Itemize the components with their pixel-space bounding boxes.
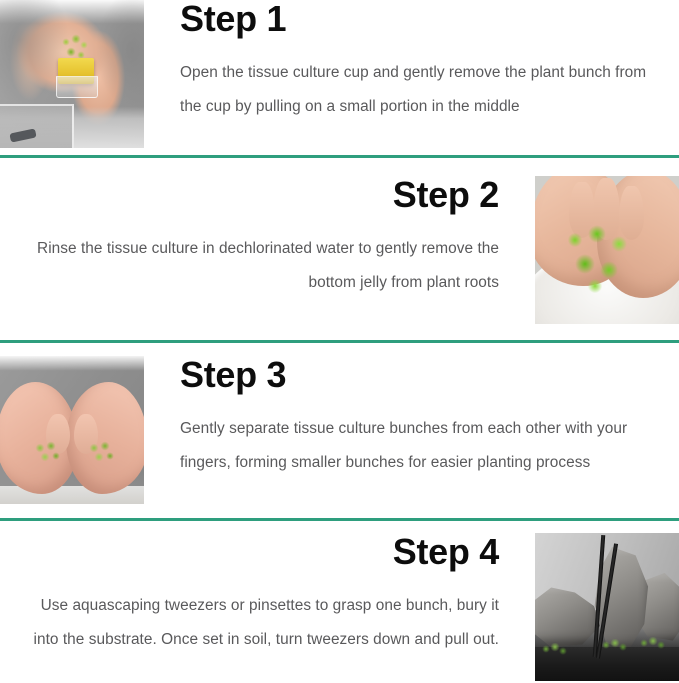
step-row-4: Step 4 Use aquascaping tweezers or pinse…: [0, 533, 679, 681]
step-1-body: Open the tissue culture cup and gently r…: [180, 56, 665, 124]
planted-sprout: [541, 643, 569, 661]
step-2-title: Step 2: [14, 176, 499, 214]
tank-equipment: [9, 128, 36, 142]
step-4-image: [535, 533, 679, 681]
planted-sprout: [601, 639, 631, 657]
steps-infographic: Step 1 Open the tissue culture cup and g…: [0, 0, 679, 683]
step-2-body: Rinse the tissue culture in dechlorinate…: [14, 232, 499, 300]
cup-base: [56, 76, 98, 98]
divider-3: [0, 518, 679, 521]
plant-bunch: [32, 440, 62, 466]
step-row-1: Step 1 Open the tissue culture cup and g…: [0, 0, 679, 148]
step-3-title: Step 3: [180, 356, 665, 394]
step-4-copy: Step 4 Use aquascaping tweezers or pinse…: [0, 533, 535, 657]
step-4-body: Use aquascaping tweezers or pinsettes to…: [14, 589, 499, 657]
step-row-2: Step 2 Rinse the tissue culture in dechl…: [0, 176, 679, 324]
step-1-title: Step 1: [180, 0, 665, 38]
step-3-copy: Step 3 Gently separate tissue culture bu…: [144, 356, 679, 480]
planted-sprout: [639, 637, 673, 655]
step-2-image: [535, 176, 679, 324]
aquarium-tank: [0, 104, 74, 148]
divider-2: [0, 340, 679, 343]
step-3-image: [0, 356, 144, 504]
step-row-3: Step 3 Gently separate tissue culture bu…: [0, 356, 679, 504]
step-2-copy: Step 2 Rinse the tissue culture in dechl…: [0, 176, 535, 300]
step-3-body: Gently separate tissue culture bunches f…: [180, 412, 665, 480]
divider-1: [0, 155, 679, 158]
step-1-copy: Step 1 Open the tissue culture cup and g…: [144, 0, 679, 124]
step-4-title: Step 4: [14, 533, 499, 571]
plant-bunch: [561, 224, 635, 294]
plant-bunch: [86, 440, 116, 466]
step-1-image: [0, 0, 144, 148]
